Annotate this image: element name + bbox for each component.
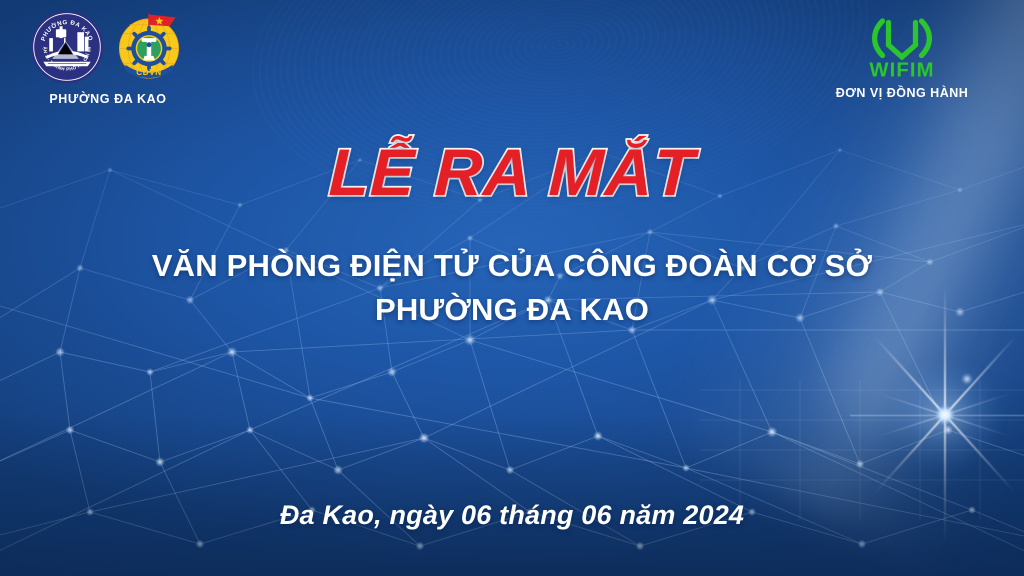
wifim-wordmark: WIFIM	[869, 60, 934, 82]
headline-block: LỄ RA MẮT	[0, 138, 1024, 207]
partner-logo-block: WIFIM · · · · · · · · · · ĐƠN VỊ ĐỒNG HÀ…	[802, 14, 1002, 100]
banner-content: PHƯỜNG ĐA KAO QUẬN 1 - THÀNH PHỐ HỒ CHÍ …	[0, 0, 1024, 576]
ward-emblem-icon: PHƯỜNG ĐA KAO QUẬN 1 - THÀNH PHỐ HỒ CHÍ …	[30, 10, 104, 89]
subtitle-block: VĂN PHÒNG ĐIỆN TỬ CỦA CÔNG ĐOÀN CƠ SỞ PH…	[0, 244, 1024, 332]
subtitle-line-2: PHƯỜNG ĐA KAO	[0, 288, 1024, 332]
organization-logos: PHƯỜNG ĐA KAO QUẬN 1 - THÀNH PHỐ HỒ CHÍ …	[18, 8, 198, 106]
partner-caption: ĐƠN VỊ ĐỒNG HÀNH	[802, 86, 1002, 100]
wifim-logo: WIFIM · · · · · · · · · ·	[802, 14, 1002, 88]
vietnam-trade-union-emblem-icon: CĐVN	[112, 10, 186, 89]
ward-logo-caption: PHƯỜNG ĐA KAO	[18, 92, 198, 106]
logo-row: PHƯỜNG ĐA KAO QUẬN 1 - THÀNH PHỐ HỒ CHÍ …	[18, 8, 198, 90]
datestamp: Đa Kao, ngày 06 tháng 06 năm 2024	[0, 500, 1024, 531]
wifim-m-logo-icon	[875, 21, 930, 57]
event-banner: PHƯỜNG ĐA KAO QUẬN 1 - THÀNH PHỐ HỒ CHÍ …	[0, 0, 1024, 576]
subtitle-line-1: VĂN PHÒNG ĐIỆN TỬ CỦA CÔNG ĐOÀN CƠ SỞ	[152, 248, 872, 283]
svg-text:CĐVN: CĐVN	[136, 68, 161, 77]
headline-main-title: LỄ RA MẮT	[328, 138, 696, 207]
